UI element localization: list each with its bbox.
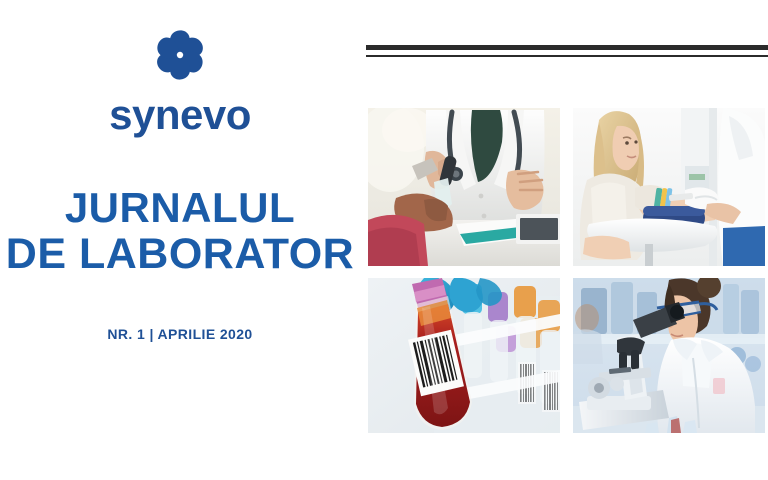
synevo-wordmark: synevo: [0, 94, 360, 136]
cover-left-panel: synevo JURNALUL DE LABORATOR NR. 1 | APR…: [0, 0, 360, 480]
cover-title: JURNALUL DE LABORATOR: [0, 186, 360, 277]
header-rules: [366, 45, 768, 57]
photo-blood-draw: [573, 108, 765, 266]
photo-microscope-scientist: [573, 278, 765, 433]
brand-block: synevo: [0, 26, 360, 136]
photo-blood-sample-tube: [368, 278, 560, 433]
photo-doctor-consultation: [368, 108, 560, 266]
title-line-1: JURNALUL: [0, 186, 360, 231]
header-rule-thin: [366, 55, 768, 57]
photo-grid: [368, 108, 768, 433]
cover-right-panel: [365, 0, 768, 480]
journal-cover-page: synevo JURNALUL DE LABORATOR NR. 1 | APR…: [0, 0, 768, 480]
synevo-flower-icon: [151, 26, 209, 84]
title-line-2: DE LABORATOR: [0, 231, 360, 277]
issue-number-label: NR. 1 | APRILIE 2020: [0, 326, 360, 342]
